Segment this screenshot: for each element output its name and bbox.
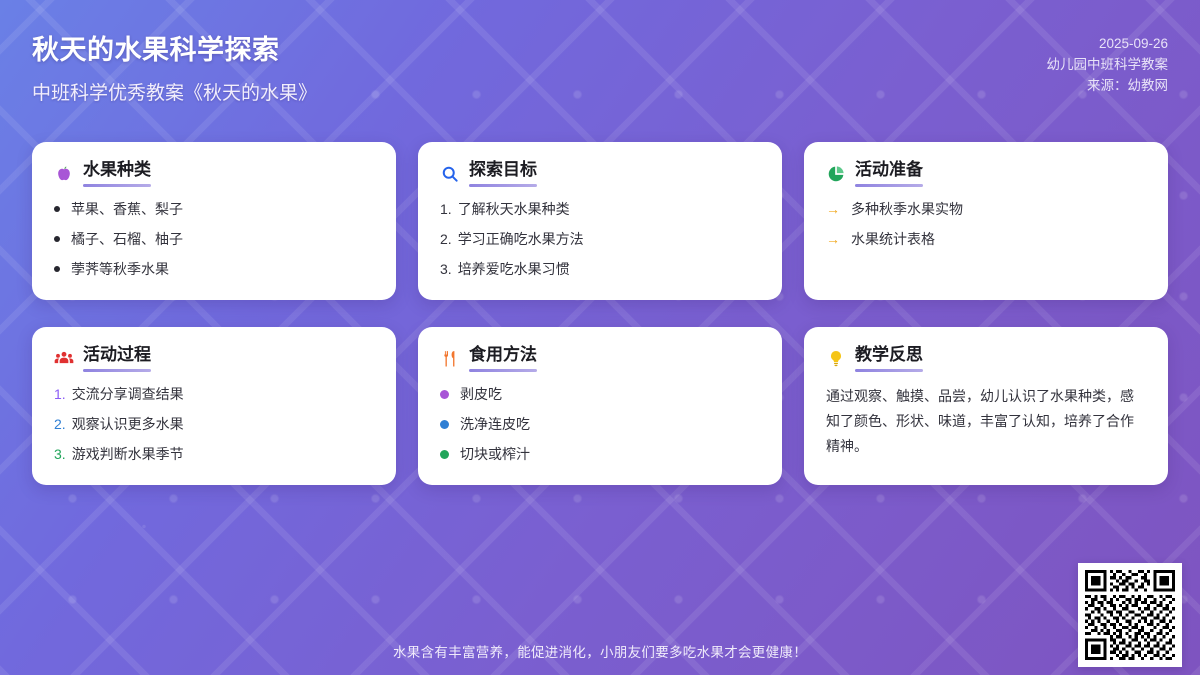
list-number: 1. [54,384,66,404]
list-item: 荸荠等秋季水果 [54,259,374,279]
card-body: 剥皮吃 洗净连皮吃 切块或榨汁 [440,384,760,464]
arrow-icon: → [826,199,840,219]
list-item-text: 了解秋天水果种类 [458,199,570,219]
card-body: 1.了解秋天水果种类 2.学习正确吃水果方法 3.培养爱吃水果习惯 [440,199,760,279]
users-icon [54,349,74,369]
bullet-dot [440,450,449,459]
page-footer: 水果含有丰富营养，能促进消化，小朋友们要多吃水果才会更健康！ [0,627,1200,675]
list-item-text: 游戏判断水果季节 [72,444,184,464]
list-number: 2. [440,229,452,249]
list-item: 2.观察认识更多水果 [54,414,374,434]
bullet-dot [440,390,449,399]
pie-chart-icon [826,164,846,184]
arrow-icon: → [826,229,840,249]
qr-code[interactable] [1078,563,1182,667]
card-eating-methods[interactable]: 食用方法 剥皮吃 洗净连皮吃 切块或榨汁 [418,327,782,485]
card-header: 活动准备 [826,160,1146,187]
card-activity-process[interactable]: 活动过程 1.交流分享调查结果 2.观察认识更多水果 3.游戏判断水果季节 [32,327,396,485]
list-item-text: 切块或榨汁 [460,444,530,464]
card-header: 探索目标 [440,160,760,187]
header-title-group: 秋天的水果科学探索 中班科学优秀教案《秋天的水果》 [32,28,317,105]
footer-text: 水果含有丰富营养，能促进消化，小朋友们要多吃水果才会更健康！ [393,641,807,661]
card-title: 活动准备 [855,160,923,187]
header-category: 幼儿园中班科学教案 [1047,54,1169,75]
title-underline [855,369,923,373]
list-item: 洗净连皮吃 [440,414,760,434]
search-icon [440,164,460,184]
eating-methods-list: 剥皮吃 洗净连皮吃 切块或榨汁 [440,384,760,464]
header-meta: 2025-09-26 幼儿园中班科学教案 来源：幼教网 [1047,33,1169,96]
page-subtitle: 中班科学优秀教案《秋天的水果》 [32,78,317,105]
exploration-goals-list: 1.了解秋天水果种类 2.学习正确吃水果方法 3.培养爱吃水果习惯 [440,199,760,279]
list-item-text: 剥皮吃 [460,384,502,404]
list-item-text: 洗净连皮吃 [460,414,530,434]
list-item-text: 苹果、香蕉、梨子 [71,199,183,219]
title-underline [83,369,151,373]
card-body: 苹果、香蕉、梨子 橘子、石榴、柚子 荸荠等秋季水果 [54,199,374,279]
list-item-text: 交流分享调查结果 [72,384,184,404]
card-title: 食用方法 [469,345,537,372]
list-item: 苹果、香蕉、梨子 [54,199,374,219]
activity-process-list: 1.交流分享调查结果 2.观察认识更多水果 3.游戏判断水果季节 [54,384,374,464]
card-teaching-reflection[interactable]: 教学反思 通过观察、触摸、品尝，幼儿认识了水果种类，感知了颜色、形状、味道，丰富… [804,327,1168,485]
list-item-text: 学习正确吃水果方法 [458,229,584,249]
list-item: 橘子、石榴、柚子 [54,229,374,249]
page-header: 秋天的水果科学探索 中班科学优秀教案《秋天的水果》 2025-09-26 幼儿园… [0,0,1200,128]
header-date: 2025-09-26 [1047,33,1169,54]
activity-preparation-list: →多种秋季水果实物 →水果统计表格 [826,199,1146,249]
list-item-text: 橘子、石榴、柚子 [71,229,183,249]
page-title: 秋天的水果科学探索 [32,28,317,67]
list-number: 3. [440,259,452,279]
list-item: 3.培养爱吃水果习惯 [440,259,760,279]
card-title: 探索目标 [469,160,537,187]
card-body: →多种秋季水果实物 →水果统计表格 [826,199,1146,249]
fork-knife-icon [440,349,460,369]
list-item-text: 培养爱吃水果习惯 [458,259,570,279]
apple-icon [54,164,74,184]
lightbulb-icon [826,349,846,369]
list-item-text: 荸荠等秋季水果 [71,259,169,279]
list-number: 1. [440,199,452,219]
list-item-text: 多种秋季水果实物 [851,199,963,219]
card-title: 水果种类 [83,160,151,187]
card-activity-preparation[interactable]: 活动准备 →多种秋季水果实物 →水果统计表格 [804,142,1168,300]
card-title: 教学反思 [855,345,923,372]
list-item: 1.交流分享调查结果 [54,384,374,404]
title-underline [83,184,151,188]
cards-grid: 水果种类 苹果、香蕉、梨子 橘子、石榴、柚子 荸荠等秋季水果 探索目标 1.了解… [32,142,1168,485]
card-header: 活动过程 [54,345,374,372]
bullet-dot [54,236,60,242]
list-item: →多种秋季水果实物 [826,199,1146,219]
bullet-dot [54,266,60,272]
list-item: 1.了解秋天水果种类 [440,199,760,219]
list-item: →水果统计表格 [826,229,1146,249]
card-body: 1.交流分享调查结果 2.观察认识更多水果 3.游戏判断水果季节 [54,384,374,464]
card-header: 食用方法 [440,345,760,372]
list-item-text: 水果统计表格 [851,229,935,249]
list-item-text: 观察认识更多水果 [72,414,184,434]
title-underline [469,184,537,188]
card-header: 教学反思 [826,345,1146,372]
card-fruit-types[interactable]: 水果种类 苹果、香蕉、梨子 橘子、石榴、柚子 荸荠等秋季水果 [32,142,396,300]
list-item: 剥皮吃 [440,384,760,404]
list-item: 3.游戏判断水果季节 [54,444,374,464]
bullet-dot [440,420,449,429]
card-body: 通过观察、触摸、品尝，幼儿认识了水果种类，感知了颜色、形状、味道，丰富了认知，培… [826,384,1146,459]
list-number: 2. [54,414,66,434]
list-item: 切块或榨汁 [440,444,760,464]
bullet-dot [54,206,60,212]
card-exploration-goals[interactable]: 探索目标 1.了解秋天水果种类 2.学习正确吃水果方法 3.培养爱吃水果习惯 [418,142,782,300]
list-item: 2.学习正确吃水果方法 [440,229,760,249]
fruit-types-list: 苹果、香蕉、梨子 橘子、石榴、柚子 荸荠等秋季水果 [54,199,374,279]
card-header: 水果种类 [54,160,374,187]
list-number: 3. [54,444,66,464]
reflection-paragraph: 通过观察、触摸、品尝，幼儿认识了水果种类，感知了颜色、形状、味道，丰富了认知，培… [826,384,1146,459]
title-underline [469,369,537,373]
qr-code-image [1085,570,1175,660]
card-title: 活动过程 [83,345,151,372]
header-source: 来源：幼教网 [1047,75,1169,96]
title-underline [855,184,923,188]
